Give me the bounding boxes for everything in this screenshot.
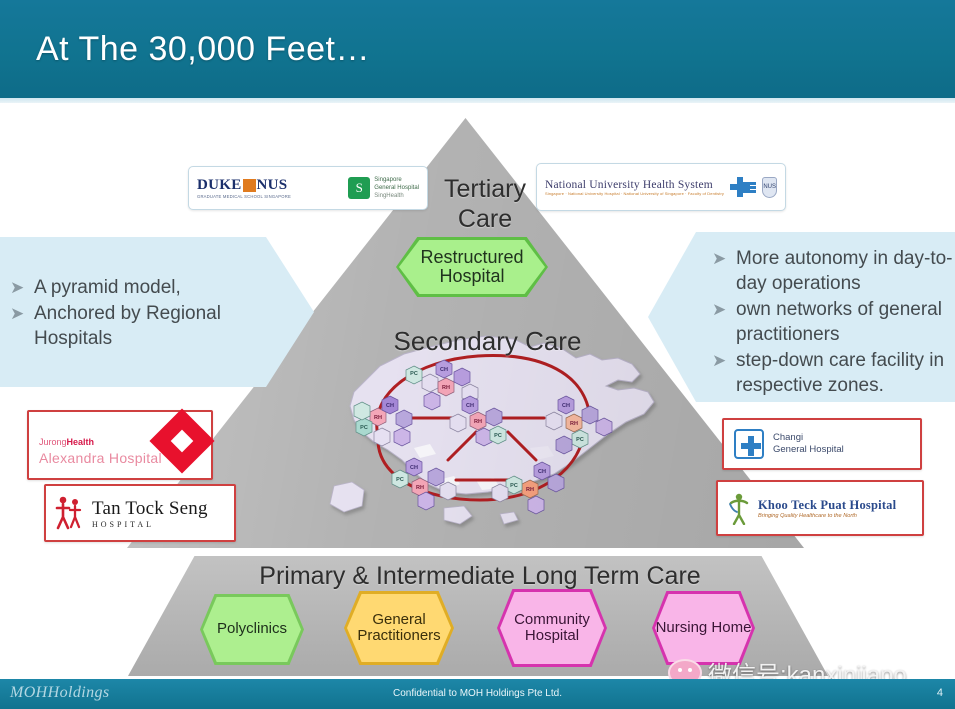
tier-label-secondary: Secondary Care <box>365 326 610 357</box>
svg-text:RH: RH <box>416 485 424 491</box>
slide-canvas: At The 30,000 Feet… <box>0 0 955 709</box>
callout-right: ➤More autonomy in day-to-day operations … <box>648 232 955 402</box>
polyclinics-hex[interactable]: Polyclinics <box>203 597 301 662</box>
logo-box-duke-nus-sgh[interactable]: DUKE NUS GRADUATE MEDICAL SCHOOL SINGAPO… <box>188 166 428 210</box>
duke-nus-logo: DUKE NUS GRADUATE MEDICAL SCHOOL SINGAPO… <box>197 177 338 199</box>
nus-shield-icon: NUS <box>762 177 777 198</box>
ktph-name: Khoo Teck Puat Hospital <box>758 498 896 513</box>
logo-box-khoo-teck-puat-hospital[interactable]: Khoo Teck Puat Hospital Bringing Quality… <box>716 480 924 536</box>
svg-text:CH: CH <box>562 403 570 409</box>
svg-text:RH: RH <box>570 421 578 427</box>
duke-nus-mark-text: NUS <box>257 177 288 194</box>
callout-left-bullet-text: Anchored by Regional Hospitals <box>34 303 221 349</box>
svg-text:CH: CH <box>466 403 474 409</box>
svg-text:PC: PC <box>360 425 368 431</box>
logo-box-tan-tock-seng[interactable]: Tan Tock Seng HOSPITAL <box>44 484 236 542</box>
svg-text:RH: RH <box>442 385 450 391</box>
arrow-bullet-icon: ➤ <box>712 297 726 322</box>
jurong-word-1: Jurong <box>39 437 67 447</box>
restructured-hospital-hex[interactable]: Restructured Hospital <box>399 240 545 294</box>
callout-right-bullets: ➤More autonomy in day-to-day operations … <box>710 246 955 399</box>
svg-text:CH: CH <box>410 465 418 471</box>
svg-text:CH: CH <box>538 469 546 475</box>
page-number: 4 <box>937 687 943 699</box>
callout-left: ➤A pyramid model, ➤Anchored by Regional … <box>0 237 314 387</box>
slide-footer: MOHHoldings Confidential to MOH Holdings… <box>0 679 955 709</box>
callout-right-bullet-text: step-down care facility in respective zo… <box>736 350 944 396</box>
alexandra-hospital-text: Alexandra Hospital <box>39 450 162 466</box>
callout-right-bullet-text: More autonomy in day-to-day operations <box>736 248 953 294</box>
callout-right-bullet-text: own networks of general practitioners <box>736 299 942 345</box>
list-item: ➤A pyramid model, <box>8 275 258 300</box>
svg-text:PC: PC <box>494 433 502 439</box>
slide-header: At The 30,000 Feet… <box>0 0 955 98</box>
duke-nus-square-icon <box>243 179 256 192</box>
ktph-person-tree-icon <box>726 491 752 525</box>
jurong-health-wordmark: JurongHealth <box>39 432 162 450</box>
svg-text:CH: CH <box>440 367 448 373</box>
nursing-home-hex[interactable]: Nursing Home <box>655 594 752 662</box>
arrow-bullet-icon: ➤ <box>10 301 24 326</box>
callout-left-bullet-text: A pyramid model, <box>34 277 181 298</box>
svg-text:RH: RH <box>474 419 482 425</box>
list-item: ➤Anchored by Regional Hospitals <box>8 301 258 351</box>
list-item: ➤step-down care facility in respective z… <box>710 348 955 398</box>
svg-text:PC: PC <box>410 371 418 377</box>
changi-line2: General Hospital <box>773 444 844 456</box>
tan-tock-seng-name: Tan Tock Seng <box>92 498 208 520</box>
callout-left-bullets: ➤A pyramid model, ➤Anchored by Regional … <box>8 275 258 352</box>
header-underline <box>0 98 955 103</box>
duke-nus-wordmark: DUKE <box>197 177 242 194</box>
nuhs-subtitle: Singapore · National University Hospital… <box>545 191 724 196</box>
list-item: ➤own networks of general practitioners <box>710 297 955 347</box>
duke-nus-subtitle: GRADUATE MEDICAL SCHOOL SINGAPORE <box>197 194 338 199</box>
arrow-bullet-icon: ➤ <box>712 246 726 271</box>
page-title: At The 30,000 Feet… <box>36 30 370 69</box>
list-item: ➤More autonomy in day-to-day operations <box>710 246 955 296</box>
arrow-bullet-icon: ➤ <box>10 275 24 300</box>
svg-text:PC: PC <box>396 477 404 483</box>
community-hospital-hex[interactable]: Community Hospital <box>500 592 604 664</box>
changi-line1: Changi <box>773 432 844 444</box>
logo-box-nuhs[interactable]: National University Health System Singap… <box>536 163 786 211</box>
svg-text:CH: CH <box>386 403 394 409</box>
general-practitioners-hex[interactable]: General Practitioners <box>347 594 451 662</box>
svg-text:RH: RH <box>374 415 382 421</box>
changi-cross-icon <box>734 429 764 459</box>
tan-tock-seng-figures-icon <box>54 495 84 531</box>
tan-tock-seng-subtitle: HOSPITAL <box>92 520 208 529</box>
singapore-map-svg: RH CH CH RH RH CH RH CH RH CH RH CH PC P… <box>318 330 684 536</box>
sgh-line1: Singapore <box>374 176 419 184</box>
medical-cross-icon <box>741 436 757 452</box>
singapore-map: RH CH CH RH RH CH RH CH RH CH RH CH PC P… <box>318 330 684 536</box>
sgh-line2: General Hospital <box>374 184 419 192</box>
svg-text:RH: RH <box>526 487 534 493</box>
nuhs-title: National University Health System <box>545 179 724 191</box>
logo-box-jurong-health[interactable]: JurongHealth Alexandra Hospital <box>27 410 213 480</box>
sgh-line3: SingHealth <box>374 192 419 200</box>
arrow-bullet-icon: ➤ <box>712 348 726 373</box>
ktph-tagline: Bringing Quality Healthcare to the North <box>758 513 896 519</box>
jurong-word-2: Health <box>67 437 95 447</box>
logo-box-changi-general-hospital[interactable]: Changi General Hospital <box>722 418 922 470</box>
medical-cross-icon <box>730 177 734 197</box>
confidentiality-notice: Confidential to MOH Holdings Pte Ltd. <box>0 688 955 699</box>
svg-text:PC: PC <box>510 483 518 489</box>
svg-text:PC: PC <box>576 437 584 443</box>
sgh-mark-icon: S <box>348 177 370 199</box>
tier-label-primary: Primary & Intermediate Long Term Care <box>200 562 760 591</box>
